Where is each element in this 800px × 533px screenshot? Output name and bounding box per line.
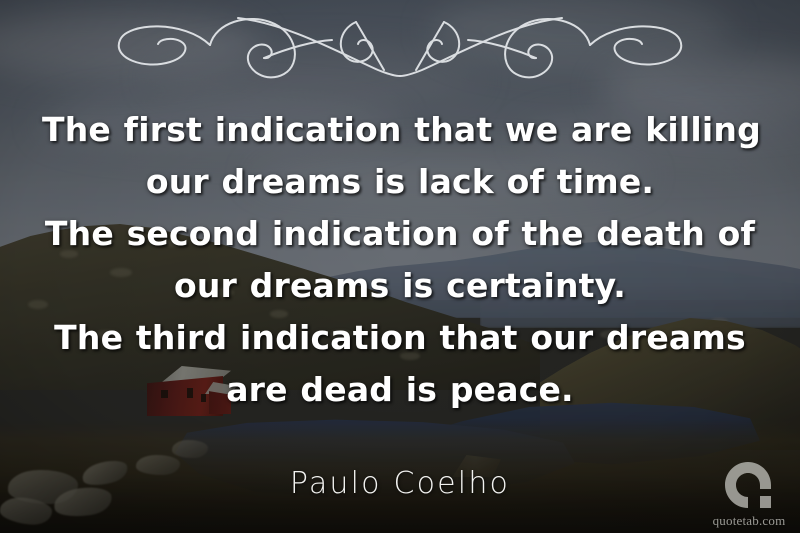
quote-line: The second indication of the death of: [42, 208, 758, 260]
quote-line: our dreams is certainty.: [42, 260, 758, 312]
quote-line: are dead is peace.: [42, 364, 758, 416]
quote-text: The first indication that we are killing…: [0, 104, 800, 416]
quote-line: The third indication that our dreams: [42, 312, 758, 364]
quote-line: The first indication that we are killing: [42, 104, 758, 156]
author-name: Paulo Coelho: [0, 466, 800, 501]
brand-watermark[interactable]: quotetab.com: [706, 458, 792, 529]
brand-site-label: quotetab.com: [706, 513, 792, 529]
quote-line: our dreams is lack of time.: [42, 156, 758, 208]
quote-card: The first indication that we are killing…: [0, 0, 800, 533]
quotetab-q-logo-icon: [722, 458, 776, 512]
boulder: [172, 440, 208, 458]
